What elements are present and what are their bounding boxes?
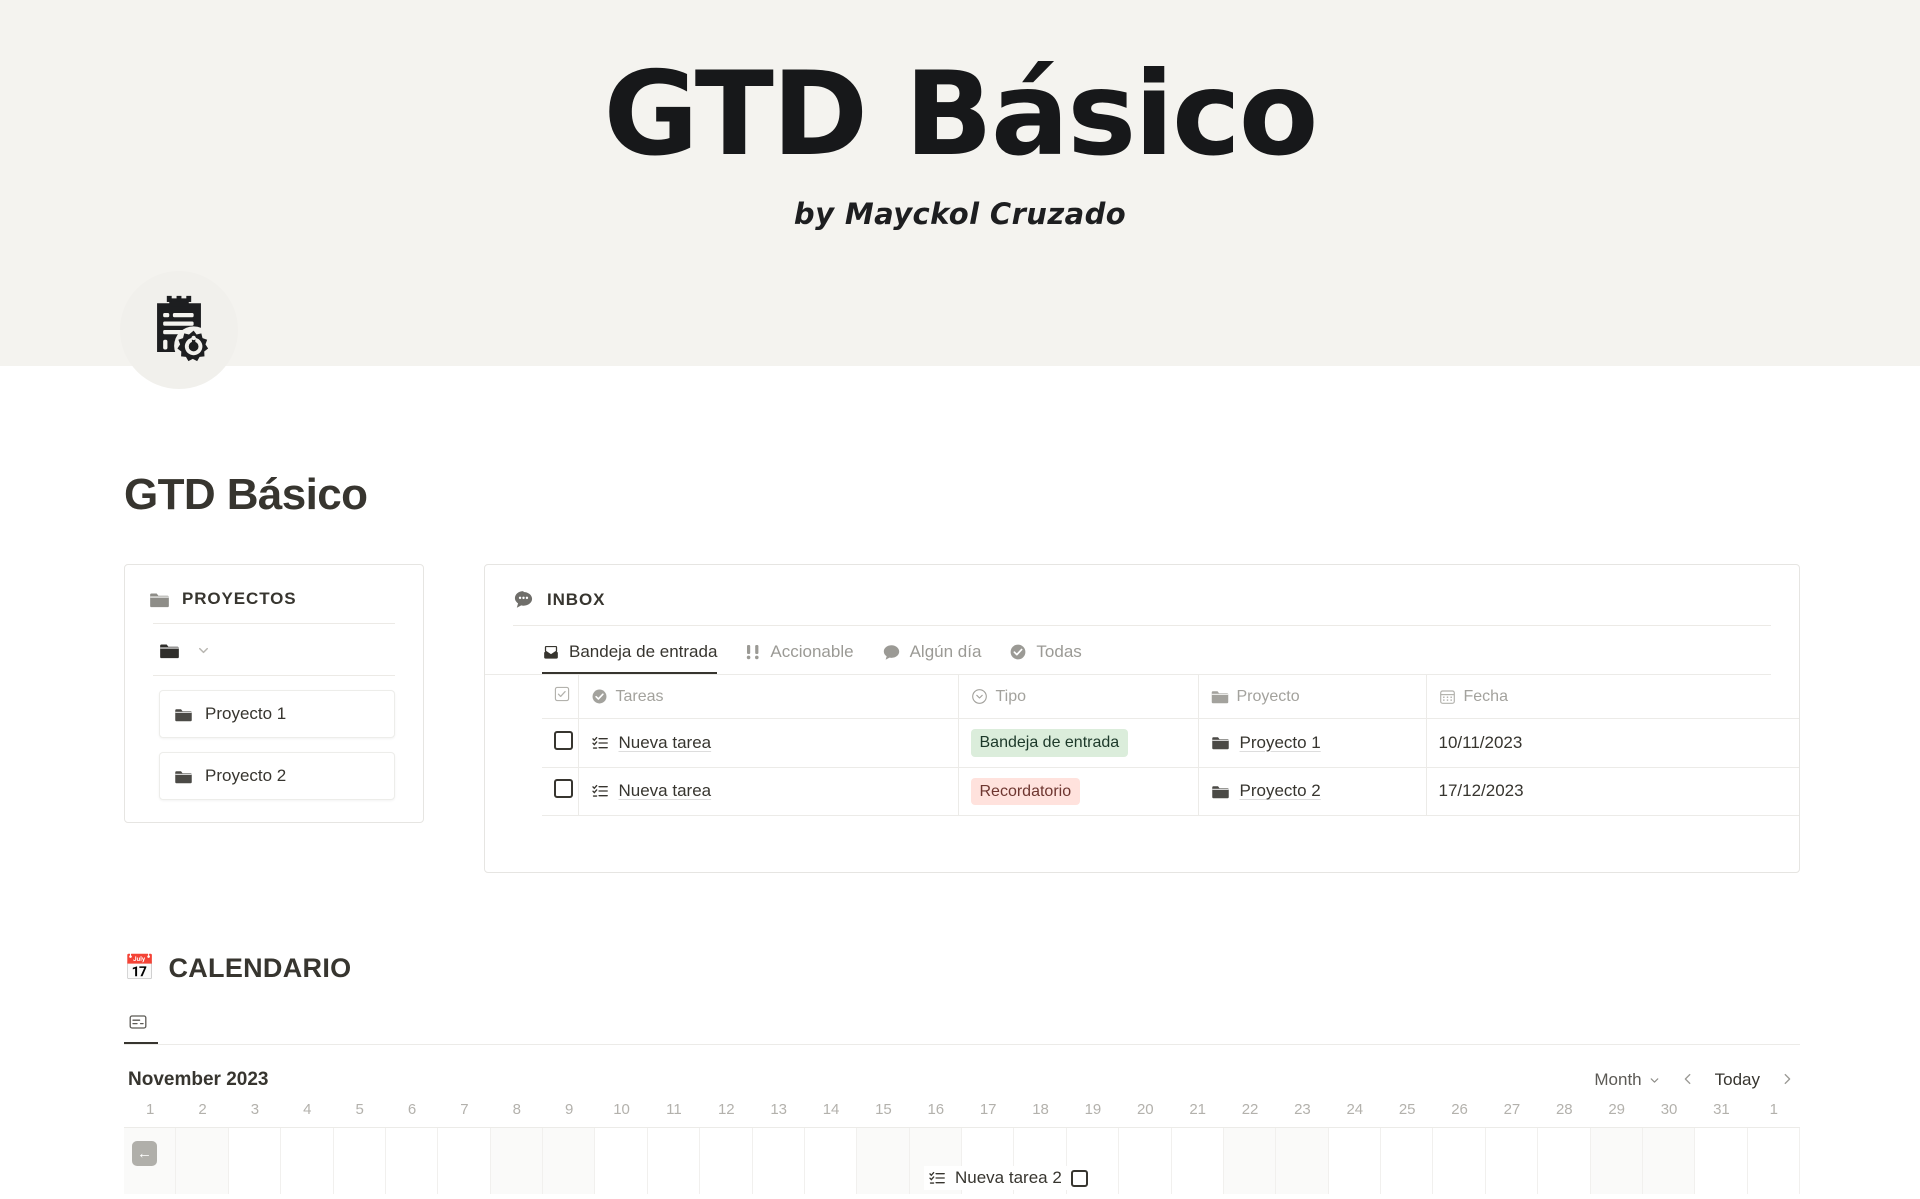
page-title: GTD Básico: [124, 470, 1920, 520]
calendar-day-cell[interactable]: [334, 1128, 386, 1194]
calendar-event-checkbox[interactable]: [1071, 1170, 1088, 1187]
cover-subtitle: by Mayckol Cruzado: [794, 197, 1126, 231]
calendario-title-label: CALENDARIO: [168, 953, 351, 984]
project-item[interactable]: Proyecto 2: [159, 752, 395, 800]
folder-icon: [174, 707, 193, 722]
column-header-select[interactable]: [542, 675, 578, 719]
folder-icon: [149, 591, 170, 608]
calendar-view-select-label: Month: [1594, 1070, 1641, 1090]
row-tipo-cell[interactable]: Bandeja de entrada: [958, 719, 1198, 768]
check-circle-icon: [1009, 643, 1027, 661]
inbox-header: INBOX: [485, 565, 1799, 625]
column-header-proyecto[interactable]: Proyecto: [1198, 675, 1426, 719]
calendar-day-number: 23: [1276, 1101, 1328, 1118]
column-header-tareas[interactable]: Tareas: [578, 675, 958, 719]
calendar-day-number: 11: [648, 1101, 700, 1118]
calendar-day-number: 14: [805, 1101, 857, 1118]
task-list-icon: [928, 1169, 946, 1187]
column-header-label: Fecha: [1464, 688, 1508, 706]
arrow-left-icon[interactable]: ←: [132, 1141, 157, 1166]
calendar-day-cell[interactable]: [700, 1128, 752, 1194]
calendar-day-number: 28: [1538, 1101, 1590, 1118]
inbox-tabs: Bandeja de entrada Accionable: [485, 626, 1771, 675]
divider: [153, 675, 395, 676]
calendar-day-number: 27: [1486, 1101, 1538, 1118]
calendar-day-cell[interactable]: [1486, 1128, 1538, 1194]
calendar-day-number: 8: [491, 1101, 543, 1118]
calendar-next-button[interactable]: [1778, 1070, 1796, 1091]
tab-bandeja-de-entrada[interactable]: Bandeja de entrada: [542, 642, 717, 674]
folder-icon: [174, 769, 193, 784]
clipboard-gear-icon[interactable]: [120, 271, 238, 389]
calendar-day-cell[interactable]: [1172, 1128, 1224, 1194]
column-header-tipo[interactable]: Tipo: [958, 675, 1198, 719]
proyectos-card: PROYECTOS: [124, 564, 424, 823]
row-proyecto-cell[interactable]: Proyecto 2: [1198, 767, 1426, 816]
calendar-day-cell[interactable]: [1695, 1128, 1747, 1194]
chevron-down-icon: [1648, 1074, 1661, 1087]
calendar-day-cell[interactable]: [753, 1128, 805, 1194]
calendar-day-number: 15: [857, 1101, 909, 1118]
table-row[interactable]: Nueva tarea Recordatorio: [542, 767, 1799, 816]
comment-dots-icon: [513, 589, 534, 610]
tab-label: Bandeja de entrada: [569, 642, 717, 662]
calendar-day-number: 30: [1643, 1101, 1695, 1118]
calendar-day-numbers: 1234567891011121314151617181920212223242…: [124, 1101, 1800, 1128]
calendar-day-cell[interactable]: [176, 1128, 228, 1194]
cover-title: GTD Básico: [604, 52, 1317, 177]
calendar-day-number: 9: [543, 1101, 595, 1118]
calendar-emoji-icon: 📅: [124, 956, 155, 981]
check-circle-icon: [591, 688, 608, 705]
calendar-day-number: 29: [1591, 1101, 1643, 1118]
calendario-toolbar: November 2023 Month Today: [124, 1045, 1800, 1101]
calendar-month-label: November 2023: [128, 1069, 268, 1091]
calendar-day-number: 2: [176, 1101, 228, 1118]
calendar-day-cell[interactable]: [438, 1128, 490, 1194]
row-proyecto-label: Proyecto 2: [1240, 781, 1321, 801]
calendar-day-number: 1: [124, 1101, 176, 1118]
calendar-day-cell[interactable]: [857, 1128, 909, 1194]
inbox-tray-icon: [542, 643, 560, 661]
row-checkbox[interactable]: [554, 779, 573, 798]
project-item[interactable]: Proyecto 1: [159, 690, 395, 738]
calendar-day-number: 17: [962, 1101, 1014, 1118]
calendar-day-number: 25: [1381, 1101, 1433, 1118]
row-checkbox[interactable]: [554, 731, 573, 750]
calendar-day-number: 18: [1014, 1101, 1066, 1118]
calendar-day-number: 19: [1067, 1101, 1119, 1118]
calendar-day-cell[interactable]: [1591, 1128, 1643, 1194]
calendar-day-number: 26: [1433, 1101, 1485, 1118]
tab-todas[interactable]: Todas: [1009, 642, 1081, 674]
calendar-day-number: 21: [1172, 1101, 1224, 1118]
tab-label: Todas: [1036, 642, 1081, 662]
calendar-day-cell[interactable]: [281, 1128, 333, 1194]
inbox-card: INBOX Bandeja de entrada: [484, 564, 1800, 873]
row-checkbox-cell[interactable]: [542, 719, 578, 768]
calendario-title: 📅 CALENDARIO: [124, 953, 1800, 984]
calendar-prev-button[interactable]: [1679, 1070, 1697, 1091]
calendar-event-label: Nueva tarea 2: [955, 1168, 1062, 1188]
calendar-day-cell[interactable]: [1538, 1128, 1590, 1194]
select-circle-icon: [971, 688, 988, 705]
calendar-day-cell[interactable]: [1224, 1128, 1276, 1194]
tab-label: Algún día: [910, 642, 982, 662]
project-item-label: Proyecto 2: [205, 766, 286, 786]
tab-calendar-view[interactable]: [124, 1008, 158, 1044]
calendar-day-cell[interactable]: [805, 1128, 857, 1194]
calendar-day-number: 6: [386, 1101, 438, 1118]
timeline-view-icon: [128, 1012, 148, 1032]
row-fecha-cell[interactable]: 10/11/2023: [1426, 719, 1799, 768]
calendar-day-cell[interactable]: [648, 1128, 700, 1194]
proyectos-group-row[interactable]: [125, 624, 423, 675]
calendar-today-button[interactable]: Today: [1715, 1070, 1760, 1090]
calendar-day-cell[interactable]: [595, 1128, 647, 1194]
calendar-day-cell[interactable]: [543, 1128, 595, 1194]
checkbox-icon: [554, 686, 570, 702]
row-proyecto-label: Proyecto 1: [1240, 733, 1321, 753]
calendar-day-number: 5: [334, 1101, 386, 1118]
calendar-day-number: 22: [1224, 1101, 1276, 1118]
tab-label: Accionable: [770, 642, 853, 662]
row-task-label: Nueva tarea: [619, 733, 712, 753]
calendar-day-cell[interactable]: [491, 1128, 543, 1194]
calendar-grid[interactable]: ← Nueva tarea 2: [124, 1128, 1800, 1194]
proyectos-header: PROYECTOS: [125, 565, 423, 623]
row-checkbox-cell[interactable]: [542, 767, 578, 816]
calendar-day-number: 7: [438, 1101, 490, 1118]
calendar-day-cell[interactable]: [1276, 1128, 1328, 1194]
calendar-day-cell[interactable]: [1119, 1128, 1171, 1194]
calendar-day-cell[interactable]: [1381, 1128, 1433, 1194]
calendar-day-cell[interactable]: [386, 1128, 438, 1194]
calendario-section: 📅 CALENDARIO November 2023 Month: [124, 953, 1800, 1194]
task-list-icon: [591, 782, 609, 800]
calendar-day-cell[interactable]: [1433, 1128, 1485, 1194]
row-tipo-cell[interactable]: Recordatorio: [958, 767, 1198, 816]
row-fecha-cell[interactable]: 17/12/2023: [1426, 767, 1799, 816]
table-row[interactable]: Nueva tarea Bandeja de entrada: [542, 719, 1799, 768]
calendar-day-number: 20: [1119, 1101, 1171, 1118]
column-header-label: Tareas: [616, 688, 664, 706]
calendar-day-number: 4: [281, 1101, 333, 1118]
calendar-day-number: 16: [910, 1101, 962, 1118]
calendar-day-number: 13: [753, 1101, 805, 1118]
calendario-view-tabs: [124, 1008, 1800, 1045]
row-task-label: Nueva tarea: [619, 781, 712, 801]
calendar-day-cell[interactable]: [1329, 1128, 1381, 1194]
task-list-icon: [591, 734, 609, 752]
row-task-cell[interactable]: Nueva tarea: [578, 719, 958, 768]
folder-icon: [159, 642, 180, 659]
calendar-day-cell[interactable]: [1643, 1128, 1695, 1194]
speech-bubble-icon: [882, 643, 901, 662]
project-item-label: Proyecto 1: [205, 704, 286, 724]
inbox-label: INBOX: [547, 590, 605, 610]
double-exclamation-icon: [745, 643, 761, 661]
row-task-cell[interactable]: Nueva tarea: [578, 767, 958, 816]
calendar-day-number: 12: [700, 1101, 752, 1118]
tab-algun-dia[interactable]: Algún día: [882, 642, 982, 674]
calendar-day-number: 3: [229, 1101, 281, 1118]
calendar-day-number: 31: [1695, 1101, 1747, 1118]
calendar-day-cell[interactable]: [229, 1128, 281, 1194]
status-badge: Bandeja de entrada: [971, 729, 1129, 757]
tab-accionable[interactable]: Accionable: [745, 642, 853, 674]
column-header-fecha[interactable]: Fecha: [1426, 675, 1799, 719]
folder-icon: [1211, 784, 1230, 799]
chevron-down-icon[interactable]: [196, 643, 211, 658]
status-badge: Recordatorio: [971, 778, 1081, 806]
row-proyecto-cell[interactable]: Proyecto 1: [1198, 719, 1426, 768]
column-header-label: Tipo: [996, 688, 1027, 706]
calendar-event[interactable]: Nueva tarea 2: [924, 1166, 1092, 1190]
column-header-label: Proyecto: [1237, 688, 1300, 706]
folder-icon: [1211, 689, 1229, 704]
calendar-view-select[interactable]: Month: [1594, 1070, 1660, 1090]
folder-icon: [1211, 735, 1230, 750]
calendar-day-number: 10: [595, 1101, 647, 1118]
inbox-table: Tareas Tipo: [542, 675, 1799, 816]
table-header-row: Tareas Tipo: [542, 675, 1799, 719]
calendar-day-cell[interactable]: [1748, 1128, 1800, 1194]
proyectos-label: PROYECTOS: [182, 589, 297, 609]
calendar-icon: [1439, 688, 1456, 705]
calendar-day-number: 1: [1748, 1101, 1800, 1118]
cover-banner: GTD Básico by Mayckol Cruzado: [0, 0, 1920, 366]
calendar-day-number: 24: [1329, 1101, 1381, 1118]
